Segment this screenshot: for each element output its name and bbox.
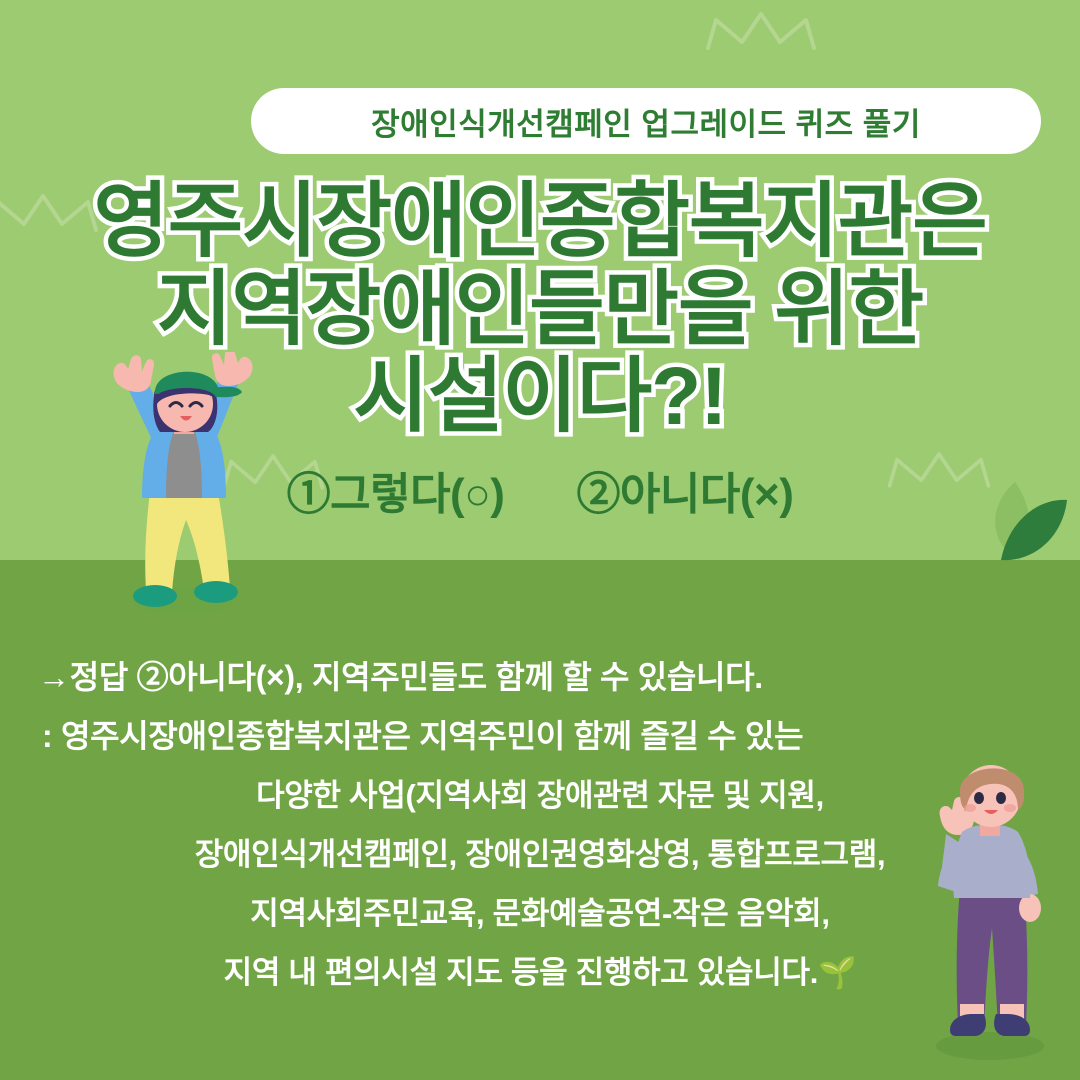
quiz-question-headline: 영주시장애인종합복지관은 지역장애인들만을 위한 시설이다?! — [0, 178, 1080, 441]
answer-detail-line: : 영주시장애인종합복지관은 지역주민이 함께 즐길 수 있는 — [0, 707, 1080, 766]
campaign-badge-label: 장애인식개선캠페인 업그레이드 퀴즈 풀기 — [371, 99, 921, 144]
quiz-options-row: ①그렇다(○) ②아니다(×) — [0, 458, 1080, 522]
answer-detail-line: 장애인식개선캠페인, 장애인권영화상영, 통합프로그램, — [0, 825, 1080, 884]
campaign-badge: 장애인식개선캠페인 업그레이드 퀴즈 풀기 — [251, 88, 1041, 154]
answer-lead-line: →정답 ②아니다(×), 지역주민들도 함께 할 수 있습니다. — [0, 648, 1080, 707]
quiz-option-no[interactable]: ②아니다(×) — [576, 458, 793, 522]
headline-line-3: 시설이다?! — [0, 353, 1080, 441]
answer-detail-line: 다양한 사업(지역사회 장애관련 자문 및 지원, — [0, 766, 1080, 825]
quiz-card: 장애인식개선캠페인 업그레이드 퀴즈 풀기 영주시장애인종합복지관은 지역장애인… — [0, 0, 1080, 1080]
answer-explanation-block: →정답 ②아니다(×), 지역주민들도 함께 할 수 있습니다. : 영주시장애… — [0, 648, 1080, 1002]
answer-detail-line: 지역사회주민교육, 문화예술공연-작은 음악회, — [0, 884, 1080, 943]
crown-zigzag-icon — [702, 8, 820, 52]
quiz-option-yes[interactable]: ①그렇다(○) — [287, 458, 505, 522]
headline-line-2: 지역장애인들만을 위한 — [0, 266, 1080, 354]
answer-detail-line: 지역 내 편의시설 지도 등을 진행하고 있습니다.🌱 — [0, 943, 1080, 1002]
headline-line-1: 영주시장애인종합복지관은 — [0, 178, 1080, 266]
